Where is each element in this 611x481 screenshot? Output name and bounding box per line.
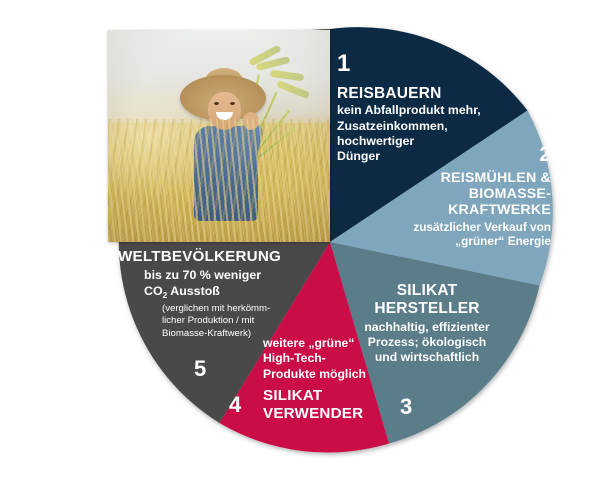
segment-4-title-line: SILIKAT [263, 387, 381, 405]
segment-4-label-group[interactable]: weitere „grüne“ High-Tech- Produkte mögl… [263, 336, 381, 422]
segment-5-number: 5 [194, 356, 206, 382]
segment-5-note-line: (verglichen mit herkömm- [162, 303, 288, 315]
segment-1-desc-line: kein Abfallprodukt mehr, [337, 103, 487, 118]
segment-4-description: weitere „grüne“ High-Tech- Produkte mögl… [263, 336, 381, 382]
segment-3-number: 3 [400, 394, 412, 420]
segment-3-title-line: SILIKAT [348, 282, 506, 300]
segment-2-title-line: REISMÜHLEN & [385, 170, 551, 186]
segment-4-title-line: VERWENDER [263, 405, 381, 423]
segment-3-title-line: HERSTELLER [348, 300, 506, 318]
segment-2-title-line: BIOMASSE- [385, 186, 551, 202]
segment-2-description: zusätzlicher Verkauf von „grüner“ Energi… [385, 220, 551, 249]
segment-3-title: SILIKAT HERSTELLER [348, 282, 506, 318]
photo-content [108, 30, 330, 242]
segment-3-desc-line: nachhaltig, effizienter [348, 320, 506, 335]
segment-2-number: 2 [385, 144, 551, 165]
segment-5-desc-line-co2: CO2 Ausstoß [144, 284, 288, 300]
segment-5-description: bis zu 70 % weniger CO2 Ausstoß [118, 268, 288, 299]
co2-suffix: Ausstoß [167, 284, 220, 298]
segment-2-title-line: KRAFTWERKE [385, 202, 551, 218]
segment-5-desc-line: bis zu 70 % weniger [144, 268, 288, 284]
segment-4-desc-line: Produkte möglich [263, 367, 381, 382]
segment-2-desc-line: „grüner“ Energie [385, 234, 551, 248]
segment-1-title: REISBAUERN [337, 85, 487, 102]
segment-4-desc-line: High-Tech- [263, 351, 381, 366]
segment-4-title: SILIKAT VERWENDER [263, 387, 381, 422]
segment-5-title: WELTBEVÖLKERUNG [118, 248, 288, 265]
segment-5-note-line: Biomasse-Kraftwerk) [162, 328, 288, 340]
segment-2-title: REISMÜHLEN & BIOMASSE- KRAFTWERKE [385, 170, 551, 219]
segment-2-label-group[interactable]: 2 REISMÜHLEN & BIOMASSE- KRAFTWERKE zusä… [385, 144, 551, 248]
segment-5-note-line: licher Produktion / mit [162, 315, 288, 327]
segment-1-desc-line: Zusatzeinkommen, [337, 119, 487, 134]
segment-5-note: (verglichen mit herkömm- licher Produkti… [118, 303, 288, 340]
co2-subscript: 2 [163, 290, 168, 300]
rice-farmer-photo [108, 30, 330, 242]
infographic-container: 1 REISBAUERN kein Abfallprodukt mehr, Zu… [0, 0, 611, 481]
segment-4-number: 4 [229, 392, 241, 418]
segment-5-label-group[interactable]: WELTBEVÖLKERUNG bis zu 70 % weniger CO2 … [118, 248, 288, 340]
co2-prefix: CO [144, 284, 163, 298]
segment-2-desc-line: zusätzlicher Verkauf von [385, 220, 551, 234]
segment-1-number: 1 [337, 52, 487, 76]
photo-vignette [108, 30, 330, 242]
